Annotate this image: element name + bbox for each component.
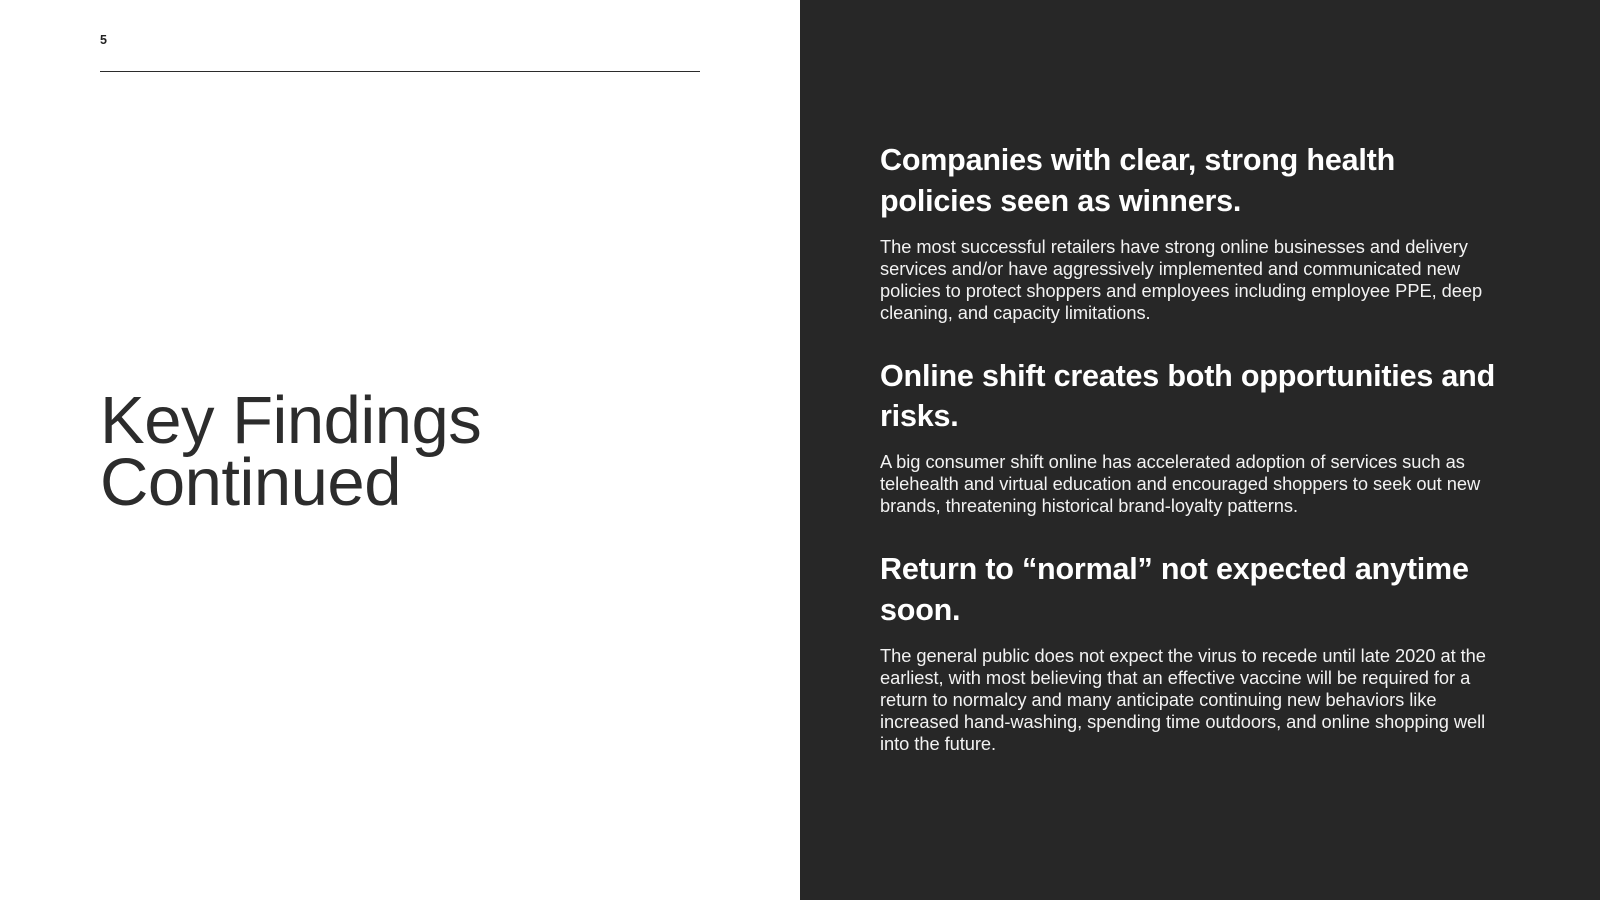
header-divider-rule bbox=[100, 71, 700, 72]
finding-body: The most successful retailers have stron… bbox=[880, 236, 1505, 324]
finding-section: Return to “normal” not expected anytime … bbox=[880, 549, 1505, 754]
finding-heading: Return to “normal” not expected anytime … bbox=[880, 549, 1505, 631]
slide: 5 Key Findings Continued Companies with … bbox=[0, 0, 1600, 900]
finding-body: A big consumer shift online has accelera… bbox=[880, 451, 1505, 517]
findings-list: Companies with clear, strong health poli… bbox=[880, 140, 1505, 755]
finding-section: Online shift creates both opportunities … bbox=[880, 356, 1505, 518]
finding-heading: Online shift creates both opportunities … bbox=[880, 356, 1505, 438]
finding-body: The general public does not expect the v… bbox=[880, 645, 1505, 755]
right-content-panel: Companies with clear, strong health poli… bbox=[800, 0, 1600, 900]
page-header: 5 bbox=[100, 34, 700, 47]
finding-heading: Companies with clear, strong health poli… bbox=[880, 140, 1505, 222]
left-title-panel: 5 Key Findings Continued bbox=[0, 0, 800, 900]
finding-section: Companies with clear, strong health poli… bbox=[880, 140, 1505, 324]
page-title: Key Findings Continued bbox=[100, 390, 760, 515]
page-number: 5 bbox=[100, 34, 700, 47]
